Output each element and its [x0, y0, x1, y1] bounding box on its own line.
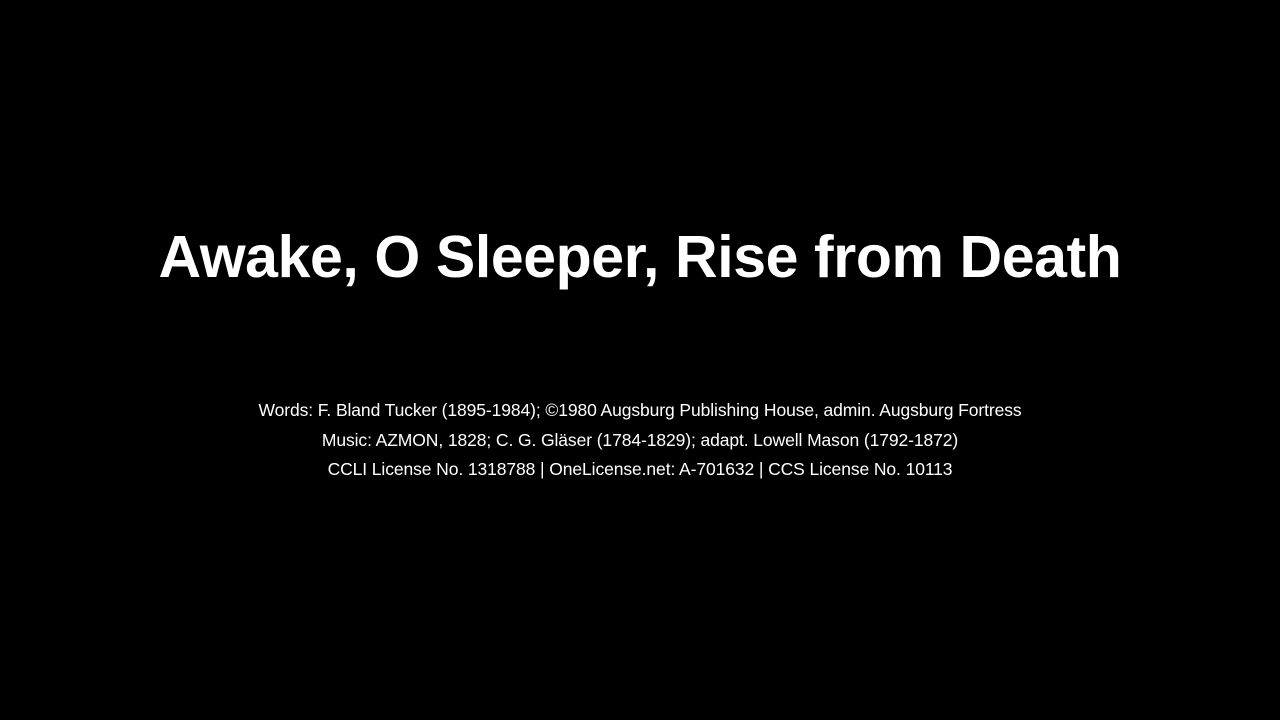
- presentation-slide: Awake, O Sleeper, Rise from Death Words:…: [0, 0, 1280, 720]
- credit-line-licenses: CCLI License No. 1318788 | OneLicense.ne…: [0, 455, 1280, 485]
- song-title: Awake, O Sleeper, Rise from Death: [0, 228, 1280, 287]
- credits-block: Words: F. Bland Tucker (1895-1984); ©198…: [0, 396, 1280, 485]
- title-block: Awake, O Sleeper, Rise from Death: [0, 0, 1280, 287]
- credit-line-words: Words: F. Bland Tucker (1895-1984); ©198…: [0, 396, 1280, 426]
- credit-line-music: Music: AZMON, 1828; C. G. Gläser (1784-1…: [0, 426, 1280, 456]
